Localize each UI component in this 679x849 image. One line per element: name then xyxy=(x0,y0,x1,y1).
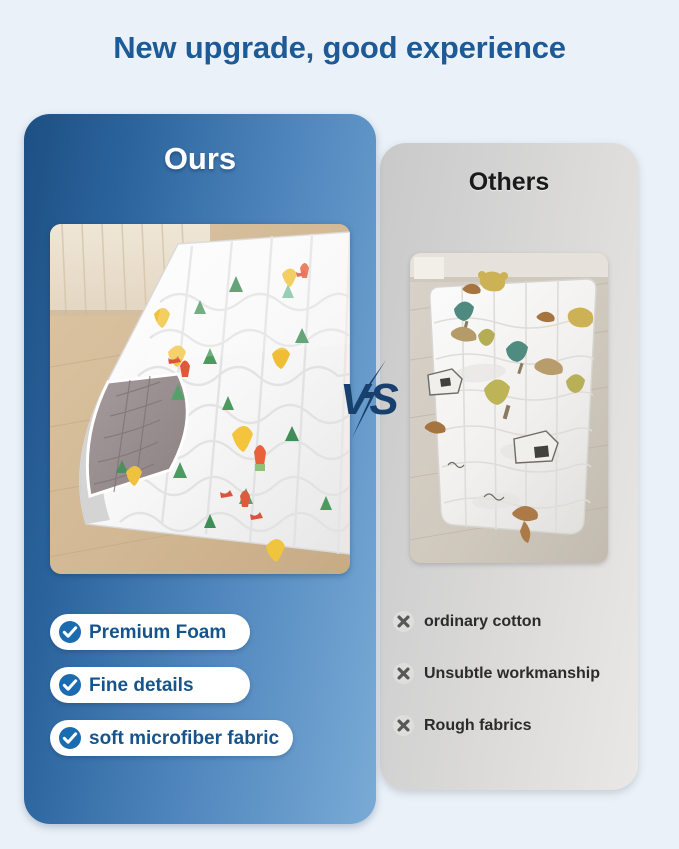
others-heading: Others xyxy=(380,168,638,197)
others-product-photo xyxy=(410,253,608,563)
ours-feature-label: soft microfiber fabric xyxy=(89,729,279,748)
ours-feature-list: Premium Foam Fine details soft microfibe… xyxy=(50,614,350,773)
others-feature-label: ordinary cotton xyxy=(424,614,541,630)
ours-feature-item-2[interactable]: soft microfiber fabric xyxy=(50,720,293,756)
ours-feature-label: Fine details xyxy=(89,676,194,695)
others-feature-item-0[interactable]: ordinary cotton xyxy=(392,610,638,633)
check-circle-icon xyxy=(58,620,82,644)
ours-product-photo xyxy=(50,224,350,574)
ours-heading: Ours xyxy=(24,141,376,177)
vs-label: VS xyxy=(340,375,399,424)
ours-panel: Ours xyxy=(24,114,376,824)
x-circle-icon xyxy=(392,610,415,633)
others-feature-label: Unsubtle workmanship xyxy=(424,666,600,682)
others-feature-item-1[interactable]: Unsubtle workmanship xyxy=(392,662,638,685)
others-feature-label: Rough fabrics xyxy=(424,718,532,734)
vs-badge: VS xyxy=(336,358,408,440)
x-circle-icon xyxy=(392,662,415,685)
ours-feature-item-1[interactable]: Fine details xyxy=(50,667,250,703)
check-circle-icon xyxy=(58,726,82,750)
x-circle-icon xyxy=(392,714,415,737)
check-circle-icon xyxy=(58,673,82,697)
others-feature-item-2[interactable]: Rough fabrics xyxy=(392,714,638,737)
page-title: New upgrade, good experience xyxy=(0,30,679,66)
others-panel: Others xyxy=(380,143,638,790)
ours-feature-item-0[interactable]: Premium Foam xyxy=(50,614,250,650)
ours-feature-label: Premium Foam xyxy=(89,623,226,642)
others-feature-list: ordinary cotton Unsubtle workmanship Rou… xyxy=(392,610,638,766)
